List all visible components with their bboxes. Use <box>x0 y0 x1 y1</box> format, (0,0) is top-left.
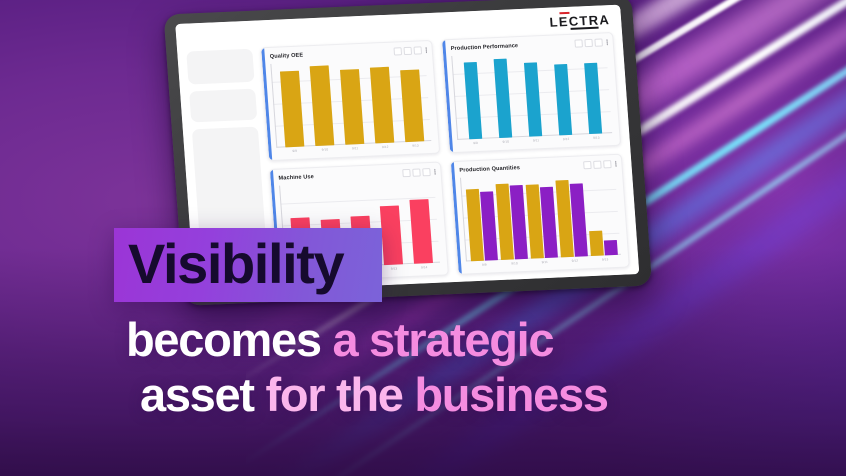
bar <box>380 205 403 264</box>
chart-bars <box>273 59 430 147</box>
x-tick-label: 9/12 <box>551 134 582 144</box>
view-option-icon[interactable] <box>583 161 592 169</box>
bar-planned <box>590 231 605 256</box>
view-option-icon[interactable] <box>595 38 604 46</box>
logo-underline <box>571 27 599 30</box>
view-option-icon[interactable] <box>414 46 423 54</box>
bar <box>340 69 364 145</box>
x-tick-label: 9/13 <box>379 264 410 274</box>
card-title: Production Quantities <box>459 165 520 174</box>
sidebar-placeholder-block[interactable] <box>189 89 257 123</box>
slide-canvas: LECTRA Quality OEE <box>0 0 846 476</box>
more-vertical-icon[interactable] <box>615 161 617 166</box>
view-option-icon[interactable] <box>394 47 403 55</box>
chart-bars <box>454 51 611 139</box>
x-tick-label: 9/13 <box>581 133 612 143</box>
x-tick-label: 9/13 <box>590 255 621 265</box>
headline-block: becomes a strategic asset for the busine… <box>126 312 826 423</box>
card-title: Production Performance <box>451 43 519 52</box>
x-tick-label: 9/11 <box>529 257 560 267</box>
visibility-highlight-box: Visibility <box>114 228 382 302</box>
view-option-icon[interactable] <box>585 39 594 47</box>
view-option-icon[interactable] <box>593 161 602 169</box>
view-option-icon[interactable] <box>404 47 413 55</box>
card-production-quantities[interactable]: Production Quantities <box>450 154 630 275</box>
x-tick-label: 9/14 <box>409 263 440 273</box>
x-tick-label: 9/10 <box>490 137 521 147</box>
x-tick-label: 9/12 <box>560 256 591 266</box>
card-toolbar[interactable] <box>583 160 616 169</box>
x-tick-label: 9/11 <box>521 136 552 146</box>
headline-line-1: becomes a strategic <box>126 312 826 367</box>
card-toolbar[interactable] <box>575 38 608 47</box>
headline-word-for-the: for the <box>265 368 414 421</box>
bar <box>279 70 303 146</box>
headline-word-becomes: becomes <box>126 313 332 366</box>
card-title: Quality OEE <box>270 53 304 60</box>
bar <box>584 62 602 133</box>
bar <box>401 69 425 141</box>
sidebar-placeholder-block[interactable] <box>186 49 254 85</box>
headline-word-asset: asset <box>140 368 265 421</box>
card-toolbar[interactable] <box>403 168 436 177</box>
headline-line-2: asset for the business <box>126 367 826 422</box>
bar <box>524 62 542 136</box>
view-option-icon[interactable] <box>603 160 612 168</box>
x-tick-label: 9/10 <box>310 145 341 155</box>
view-option-icon[interactable] <box>575 39 584 47</box>
chart-quality-oee: 9/9 9/10 9/11 9/12 9/13 <box>270 57 432 157</box>
bar <box>493 59 512 138</box>
bar <box>370 66 394 142</box>
headline-word-a-strategic: a strategic <box>332 313 553 366</box>
chart-bars <box>463 173 620 261</box>
bar <box>463 62 481 139</box>
more-vertical-icon[interactable] <box>606 40 608 45</box>
x-tick-label: 9/9 <box>460 138 491 148</box>
card-quality-oee[interactable]: Quality OEE <box>260 40 440 161</box>
chart-production-quantities: 9/9 9/10 9/11 9/12 9/13 <box>460 171 622 271</box>
headline-word-business: business <box>414 368 607 421</box>
lectra-logo: LECTRA <box>549 13 612 29</box>
bar <box>554 64 572 134</box>
x-tick-label: 9/11 <box>340 144 371 154</box>
chart-production-performance: 9/9 9/10 9/11 9/12 9/13 <box>451 49 613 149</box>
x-tick-label: 9/9 <box>279 146 310 156</box>
bar <box>309 66 334 146</box>
view-option-icon[interactable] <box>413 168 422 176</box>
more-vertical-icon[interactable] <box>425 48 427 53</box>
card-title: Machine Use <box>278 174 314 182</box>
x-tick-label: 9/12 <box>370 142 401 152</box>
view-option-icon[interactable] <box>423 168 432 176</box>
x-tick-label: 9/10 <box>499 259 530 269</box>
bar-actual <box>604 240 618 255</box>
view-option-icon[interactable] <box>403 169 412 177</box>
x-tick-label: 9/9 <box>469 260 500 270</box>
card-production-performance[interactable]: Production Performance <box>441 32 621 153</box>
more-vertical-icon[interactable] <box>434 169 436 174</box>
x-tick-label: 9/13 <box>400 141 431 151</box>
bar <box>410 199 434 263</box>
page-title: Visibility <box>114 236 343 292</box>
logo-text: LECTRA <box>549 13 610 29</box>
card-toolbar[interactable] <box>394 46 427 55</box>
